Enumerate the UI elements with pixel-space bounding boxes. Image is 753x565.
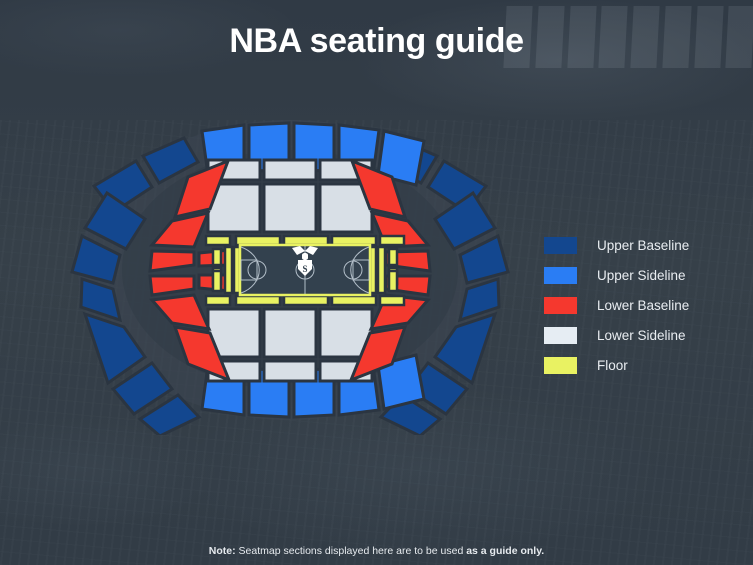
- footer-note-label: Note:: [209, 545, 236, 557]
- legend-item-upper-sideline: Upper Sideline: [544, 260, 734, 290]
- legend-swatch-lower-baseline: [544, 297, 577, 314]
- legend: Upper Baseline Upper Sideline Lower Base…: [544, 230, 734, 380]
- legend-label-upper-sideline: Upper Sideline: [597, 268, 686, 283]
- legend-item-floor: Floor: [544, 350, 734, 380]
- seatmap: S: [60, 105, 520, 435]
- legend-label-upper-baseline: Upper Baseline: [597, 238, 689, 253]
- seating-guide-page: NBA seating guide: [0, 0, 753, 565]
- legend-swatch-upper-baseline: [544, 237, 577, 254]
- lower-sideline-top: [208, 160, 372, 232]
- court-logo-letter: S: [302, 264, 307, 274]
- legend-label-floor: Floor: [597, 358, 628, 373]
- footer-note-text: Seatmap sections displayed here are to b…: [236, 545, 467, 557]
- legend-item-upper-baseline: Upper Baseline: [544, 230, 734, 260]
- footer-note: Note: Seatmap sections displayed here ar…: [0, 545, 753, 557]
- legend-label-lower-sideline: Lower Sideline: [597, 328, 686, 343]
- page-title: NBA seating guide: [0, 22, 753, 61]
- legend-swatch-upper-sideline: [544, 267, 577, 284]
- footer-note-emphasis: as a guide only.: [466, 545, 544, 557]
- legend-swatch-lower-sideline: [544, 327, 577, 344]
- legend-item-lower-baseline: Lower Baseline: [544, 290, 734, 320]
- legend-label-lower-baseline: Lower Baseline: [597, 298, 689, 313]
- basketball-court: S: [240, 245, 370, 295]
- lower-sideline-bottom: [208, 309, 372, 381]
- legend-swatch-floor: [544, 357, 577, 374]
- legend-item-lower-sideline: Lower Sideline: [544, 320, 734, 350]
